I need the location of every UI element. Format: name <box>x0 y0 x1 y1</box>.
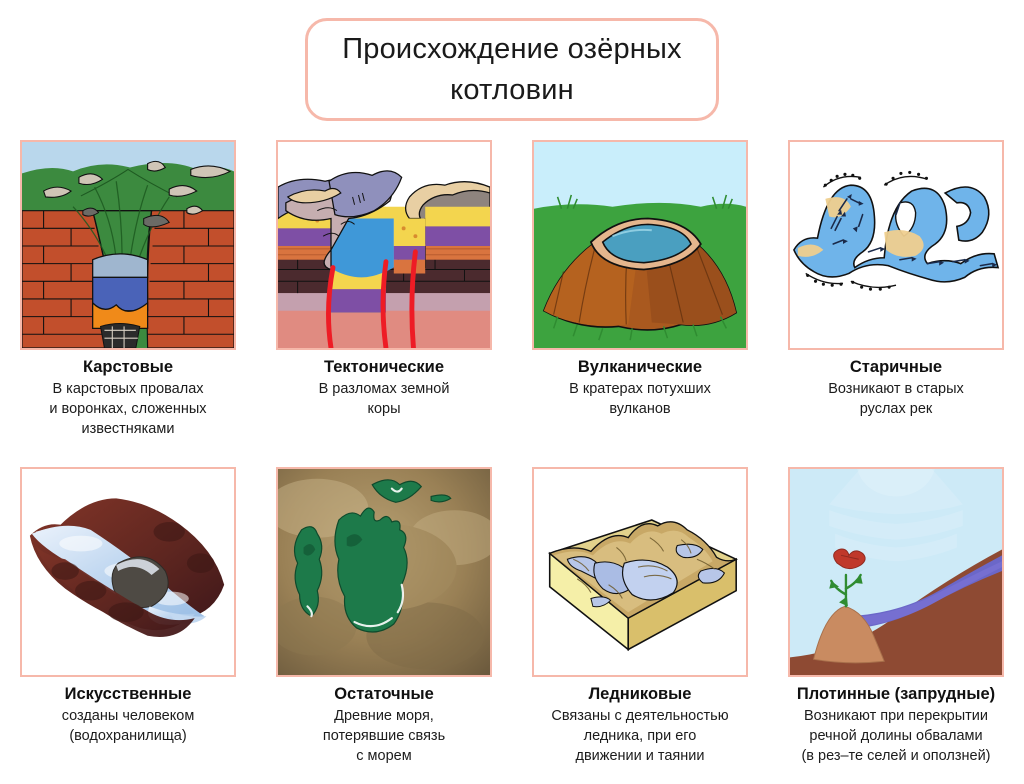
card-title: Карстовые <box>6 356 250 378</box>
card-title: Плотинные (запрудные) <box>774 683 1018 705</box>
page-title: Происхождение озёрных котловин <box>326 29 698 111</box>
illustration-glacial-terrain <box>532 467 748 677</box>
caption-oxbow: Старичные Возникают в старых руслах рек <box>774 356 1018 419</box>
card-relict[interactable]: Остаточные Древние моря, потерявшие связ… <box>256 467 512 766</box>
card-title: Искусственные <box>6 683 250 705</box>
card-title: Вулканические <box>518 356 762 378</box>
grid-row-2: Искусственные созданы человеком (водохра… <box>0 467 1024 766</box>
glacial-svg <box>534 469 746 675</box>
caption-glacial: Ледниковые Связаны с деятельностью ледни… <box>518 683 762 766</box>
card-karst[interactable]: Карстовые В карстовых провалах и воронка… <box>0 140 256 439</box>
illustration-karst-sinkhole <box>20 140 236 350</box>
card-artificial[interactable]: Искусственные созданы человеком (водохра… <box>0 467 256 766</box>
card-dammed[interactable]: Плотинные (запрудные) Возникают при пере… <box>768 467 1024 766</box>
card-glacial[interactable]: Ледниковые Связаны с деятельностью ледни… <box>512 467 768 766</box>
lake-origin-grid: Карстовые В карстовых провалах и воронка… <box>0 140 1024 766</box>
card-description: Древние моря, потерявшие связь с морем <box>262 706 506 766</box>
page-title-box: Происхождение озёрных котловин <box>305 18 719 121</box>
card-oxbow[interactable]: Старичные Возникают в старых руслах рек <box>768 140 1024 439</box>
caption-dammed: Плотинные (запрудные) Возникают при пере… <box>774 683 1018 766</box>
dammed-svg <box>790 469 1002 675</box>
caption-artificial: Искусственные созданы человеком (водохра… <box>6 683 250 746</box>
karst-svg <box>22 142 234 348</box>
illustration-oxbow-river <box>788 140 1004 350</box>
illustration-volcano-crater-lake <box>532 140 748 350</box>
card-volcanic[interactable]: Вулканические В кратерах потухших вулкан… <box>512 140 768 439</box>
card-description: созданы человеком (водохранилища) <box>6 706 250 746</box>
card-description: Возникают при перекрытии речной долины о… <box>774 706 1018 766</box>
illustration-reservoir-dam <box>20 467 236 677</box>
caption-tectonic: Тектонические В разломах земной коры <box>262 356 506 419</box>
card-description: В разломах земной коры <box>262 379 506 419</box>
card-description: Связаны с деятельностью ледника, при его… <box>518 706 762 766</box>
caption-volcanic: Вулканические В кратерах потухших вулкан… <box>518 356 762 419</box>
card-tectonic[interactable]: Тектонические В разломах земной коры <box>256 140 512 439</box>
illustration-landslide-dam <box>788 467 1004 677</box>
caption-karst: Карстовые В карстовых провалах и воронка… <box>6 356 250 439</box>
card-title: Ледниковые <box>518 683 762 705</box>
card-title: Тектонические <box>262 356 506 378</box>
card-title: Остаточные <box>262 683 506 705</box>
grid-row-1: Карстовые В карстовых провалах и воронка… <box>0 140 1024 439</box>
page-title-line2: котловин <box>450 74 574 106</box>
caption-relict: Остаточные Древние моря, потерявшие связ… <box>262 683 506 766</box>
volcanic-svg <box>534 142 746 348</box>
card-description: Возникают в старых руслах рек <box>774 379 1018 419</box>
page-title-line1: Происхождение озёрных <box>342 33 682 65</box>
card-title: Старичные <box>774 356 1018 378</box>
tectonic-svg <box>278 142 490 348</box>
relict-svg <box>278 469 490 675</box>
artificial-svg <box>22 469 234 675</box>
oxbow-svg <box>790 142 1002 348</box>
illustration-relict-sea <box>276 467 492 677</box>
illustration-tectonic-rift <box>276 140 492 350</box>
card-description: В карстовых провалах и воронках, сложенн… <box>6 379 250 439</box>
card-description: В кратерах потухших вулканов <box>518 379 762 419</box>
